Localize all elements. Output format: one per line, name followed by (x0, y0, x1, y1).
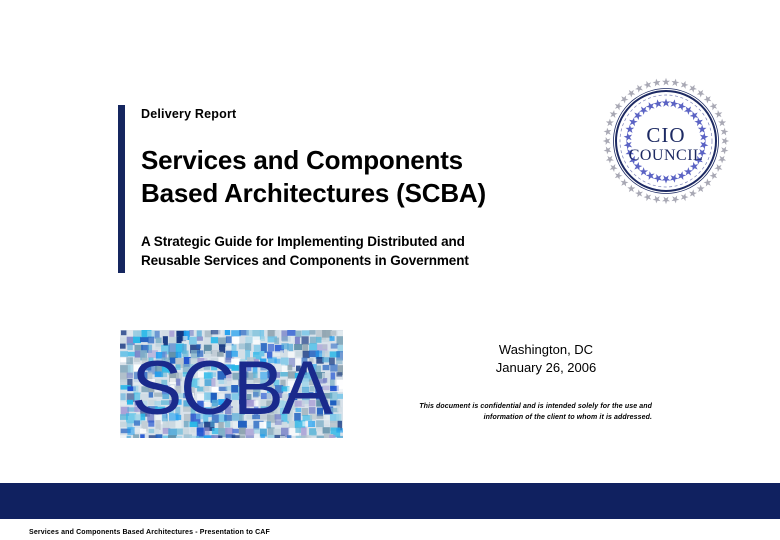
title-block: Delivery Report Services and Components … (141, 106, 571, 270)
date-label: January 26, 2006 (440, 359, 652, 377)
page-title-line-1: Services and Components (141, 144, 571, 177)
page-subtitle: A Strategic Guide for Implementing Distr… (141, 232, 571, 270)
presentation-title-slide: Delivery Report Services and Components … (0, 0, 780, 540)
footer-caption: Services and Components Based Architectu… (29, 529, 270, 536)
seal-line-1: CIO (646, 123, 685, 147)
page-subtitle-line-1: A Strategic Guide for Implementing Distr… (141, 232, 571, 251)
confidentiality-notice: This document is confidential and is int… (360, 402, 652, 423)
confidentiality-line-2: information of the client to whom it is … (360, 413, 652, 424)
title-accent-bar (118, 105, 125, 273)
place-and-date: Washington, DC January 26, 2006 (440, 341, 652, 377)
page-title-line-2: Based Architectures (SCBA) (141, 177, 571, 210)
scba-logo-text: SCBA (132, 346, 333, 431)
confidentiality-line-1: This document is confidential and is int… (360, 402, 652, 413)
document-type-label: Delivery Report (141, 106, 571, 122)
footer-band (0, 483, 780, 519)
scba-mosaic-logo: SCBA (120, 330, 343, 438)
place-label: Washington, DC (440, 341, 652, 359)
page-title: Services and Components Based Architectu… (141, 144, 571, 210)
page-subtitle-line-2: Reusable Services and Components in Gove… (141, 251, 571, 270)
cio-council-seal-icon: CIO COUNCIL (598, 76, 734, 206)
seal-line-2: COUNCIL (629, 147, 704, 164)
